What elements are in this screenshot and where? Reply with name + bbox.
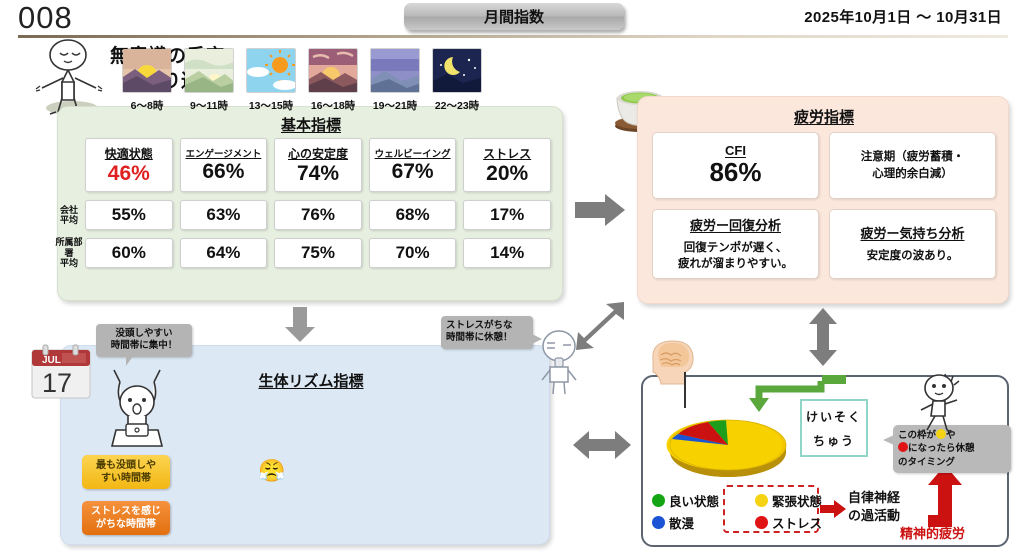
recovery-analysis-title: 疲労ー回復分析 xyxy=(690,215,781,234)
fatigue-indicators-title: 疲労指標 xyxy=(638,106,1010,127)
measuring-line2: ちゅう xyxy=(813,432,855,449)
date-range-label: 2025年10月1日 〜 10月31日 xyxy=(804,6,1002,27)
arrow-right-icon xyxy=(575,192,627,228)
company-average-label-line2: 平均 xyxy=(60,215,78,225)
metric-card-wellbeing[interactable]: ウェルビーイング 67% xyxy=(369,138,457,192)
sunset-icon xyxy=(308,48,358,93)
cfi-card[interactable]: CFI 86% xyxy=(652,132,819,199)
basic-indicators-title: 基本指標 xyxy=(58,114,564,135)
metric-header-row: 快適状態 46% エンゲージメント 66% 心の安定度 74% ウェルビーイング… xyxy=(85,138,551,192)
phase-card[interactable]: 注意期（疲労蓄積・ 心理的余白減） xyxy=(829,132,996,199)
brain-head-icon xyxy=(645,338,697,386)
state-distribution-pie-chart[interactable] xyxy=(663,400,793,485)
sunrise-icon xyxy=(122,48,172,93)
table-cell: 76% xyxy=(274,200,362,230)
arrow-down-icon xyxy=(283,307,317,343)
company-average-row: 会社 平均 55% 63% 76% 68% 17% xyxy=(85,200,551,230)
legend-color-swatch xyxy=(755,494,768,507)
table-cell: 64% xyxy=(180,238,268,268)
page-title: 月間指数 xyxy=(404,3,624,30)
morning-icon xyxy=(184,48,234,93)
page-number: 008 xyxy=(18,0,73,36)
metric-value: 67% xyxy=(392,160,434,183)
focus-tip-line2: 時間帯に集中！ xyxy=(101,340,187,352)
legend-item-tense[interactable]: 緊張状態 xyxy=(755,491,822,510)
night-moon-icon xyxy=(432,48,482,93)
biological-rhythm-title: 生体リズム指標 xyxy=(161,370,461,391)
autonomic-line2: の過活動 xyxy=(848,507,900,525)
time-slot-item[interactable]: 6〜8時 xyxy=(122,48,172,113)
company-average-label: 会社 平均 xyxy=(52,205,86,226)
rest-tip-line2: 時間帯に休憩！ xyxy=(446,332,528,344)
table-cell: 68% xyxy=(369,200,457,230)
red-arrow-right-icon xyxy=(820,500,846,518)
table-cell: 55% xyxy=(85,200,173,230)
measuring-line1: けいそく xyxy=(806,408,862,425)
time-slot-label: 13〜15時 xyxy=(246,98,296,113)
metric-label: ストレス xyxy=(483,145,531,162)
arrow-horizontal-double-icon xyxy=(573,428,631,462)
autonomic-line1: 自律神経 xyxy=(848,489,900,507)
table-cell: 75% xyxy=(274,238,362,268)
mascot-cheering-at-desk-icon xyxy=(98,368,176,450)
legend-color-swatch xyxy=(755,516,768,529)
metric-card-engagement[interactable]: エンゲージメント 66% xyxy=(180,138,268,192)
metric-card-stress[interactable]: ストレス 20% xyxy=(463,138,551,192)
legend-item-good[interactable]: 良い状態 xyxy=(652,491,744,510)
timing-line2: になったら休憩 xyxy=(898,442,1006,455)
tag-focus-line1: 最も没頭しや xyxy=(96,460,156,471)
metric-label: エンゲージメント xyxy=(185,146,261,160)
time-slot-item[interactable]: 19〜21時 xyxy=(370,48,420,113)
red-arrow-up-icon xyxy=(928,465,962,527)
page-header: 008 月間指数 2025年10月1日 〜 10月31日 xyxy=(0,0,1024,42)
time-slot-item[interactable]: 16〜18時 xyxy=(308,48,358,113)
header-divider xyxy=(18,35,1008,38)
legend-row: 散漫 ストレス xyxy=(652,511,842,533)
table-cell: 17% xyxy=(463,200,551,230)
midday-sun-icon xyxy=(246,48,296,93)
cfi-value: 86% xyxy=(709,158,761,188)
mascot-tired-icon xyxy=(534,328,584,396)
recovery-line2: 疲れが溜まりやすい。 xyxy=(678,256,793,272)
rest-tip-line1: ストレスがちな xyxy=(446,320,528,332)
timing-line2-text: になったら休憩 xyxy=(908,443,975,454)
tag-focus-line2: すい時間帯 xyxy=(101,473,151,484)
legend-color-swatch xyxy=(652,516,665,529)
time-slot-label: 9〜11時 xyxy=(184,98,234,113)
time-slot-item[interactable]: 9〜11時 xyxy=(184,48,234,113)
recovery-analysis-card[interactable]: 疲労ー回復分析 回復テンポが遅く、 疲れが溜まりやすい。 xyxy=(652,209,819,279)
time-slot-list: 6〜8時 9〜11時 13〜15時 xyxy=(122,48,482,113)
phase-line1: 注意期（疲労蓄積・ xyxy=(861,149,965,165)
legend-label: 散漫 xyxy=(669,513,694,532)
table-cell: 60% xyxy=(85,238,173,268)
fatigue-grid: CFI 86% 注意期（疲労蓄積・ 心理的余白減） 疲労ー回復分析 回復テンポが… xyxy=(652,132,996,279)
angry-face-emoji-icon: 😤 xyxy=(258,458,285,484)
measuring-status-box[interactable]: けいそく ちゅう xyxy=(800,399,868,457)
metric-card-stability[interactable]: 心の安定度 74% xyxy=(274,138,362,192)
metric-label: ウェルビーイング xyxy=(375,146,451,160)
focus-tip-line1: 没頭しやすい xyxy=(101,328,187,340)
mascot-walking-icon xyxy=(915,372,963,434)
tag-stress-line1: ストレスを感じ xyxy=(91,506,161,517)
department-average-label: 所属部署 平均 xyxy=(52,237,86,268)
time-slot-label: 22〜23時 xyxy=(432,98,482,113)
tag-most-focused-hours: 最も没頭しや すい時間帯 xyxy=(82,455,170,489)
dusk-icon xyxy=(370,48,420,93)
mental-fatigue-label: 精神的疲労 xyxy=(900,523,965,542)
cfi-label: CFI xyxy=(725,143,746,158)
metric-value: 46% xyxy=(108,162,150,185)
measuring-indicator-cap xyxy=(822,375,846,384)
time-slot-label: 6〜8時 xyxy=(122,98,172,113)
legend-label: 良い状態 xyxy=(669,491,719,510)
legend-color-swatch xyxy=(652,494,665,507)
legend-item-distracted[interactable]: 散漫 xyxy=(652,513,744,532)
table-cell: 14% xyxy=(463,238,551,268)
metric-value: 66% xyxy=(202,160,244,183)
time-slot-item[interactable]: 22〜23時 xyxy=(432,48,482,113)
department-average-label-line2: 平均 xyxy=(60,258,78,268)
tag-stressful-hours: ストレスを感じ がちな時間帯 xyxy=(82,501,170,535)
table-cell: 63% xyxy=(180,200,268,230)
mood-analysis-title: 疲労ー気持ち分析 xyxy=(860,223,964,242)
svg-text:JUL: JUL xyxy=(42,355,61,366)
recovery-line1: 回復テンポが遅く、 xyxy=(684,240,788,256)
metric-label: 心の安定度 xyxy=(288,145,348,162)
metric-value: 20% xyxy=(486,162,528,185)
legend-label: 緊張状態 xyxy=(772,491,822,510)
phase-line2: 心理的余白減） xyxy=(872,166,953,182)
department-average-label-line1: 所属部署 xyxy=(55,237,82,257)
mood-analysis-body: 安定度の波あり。 xyxy=(867,248,959,264)
pie-legend: 良い状態 緊張状態 散漫 ストレス xyxy=(652,489,842,533)
department-average-row: 所属部署 平均 60% 64% 75% 70% 14% xyxy=(85,238,551,268)
time-slot-label: 19〜21時 xyxy=(370,98,420,113)
focus-tip-bubble: 没頭しやすい 時間帯に集中！ xyxy=(96,324,192,357)
rest-tip-bubble: ストレスがちな 時間帯に休憩！ xyxy=(441,316,533,349)
autonomic-overactivity-label: 自律神経 の過活動 xyxy=(848,489,900,524)
fatigue-indicators-panel: 疲労指標 CFI 86% 注意期（疲労蓄積・ 心理的余白減） 疲労ー回復分析 回… xyxy=(637,96,1009,304)
timing-line3: のタイミング xyxy=(898,456,1006,469)
basic-indicators-panel: 基本指標 快適状態 46% エンゲージメント 66% 心の安定度 74% ウェル… xyxy=(57,106,563,301)
legend-item-stress[interactable]: ストレス xyxy=(755,513,822,532)
calendar-icon: JUL 17 xyxy=(30,344,92,402)
metric-card-comfort[interactable]: 快適状態 46% xyxy=(85,138,173,192)
basic-indicators-grid: 快適状態 46% エンゲージメント 66% 心の安定度 74% ウェルビーイング… xyxy=(85,138,551,268)
tag-stress-line2: がちな時間帯 xyxy=(96,519,156,530)
red-dot-icon xyxy=(898,442,908,452)
table-cell: 70% xyxy=(369,238,457,268)
svg-text:17: 17 xyxy=(42,368,72,398)
legend-label: ストレス xyxy=(772,513,822,532)
metric-value: 74% xyxy=(297,162,339,185)
legend-row: 良い状態 緊張状態 xyxy=(652,489,842,511)
company-average-label-line1: 会社 xyxy=(60,205,78,215)
time-slot-item[interactable]: 13〜15時 xyxy=(246,48,296,113)
mood-analysis-card[interactable]: 疲労ー気持ち分析 安定度の波あり。 xyxy=(829,209,996,279)
metric-label: 快適状態 xyxy=(105,145,153,162)
time-slot-label: 16〜18時 xyxy=(308,98,358,113)
arrow-vertical-double-icon xyxy=(808,308,838,366)
